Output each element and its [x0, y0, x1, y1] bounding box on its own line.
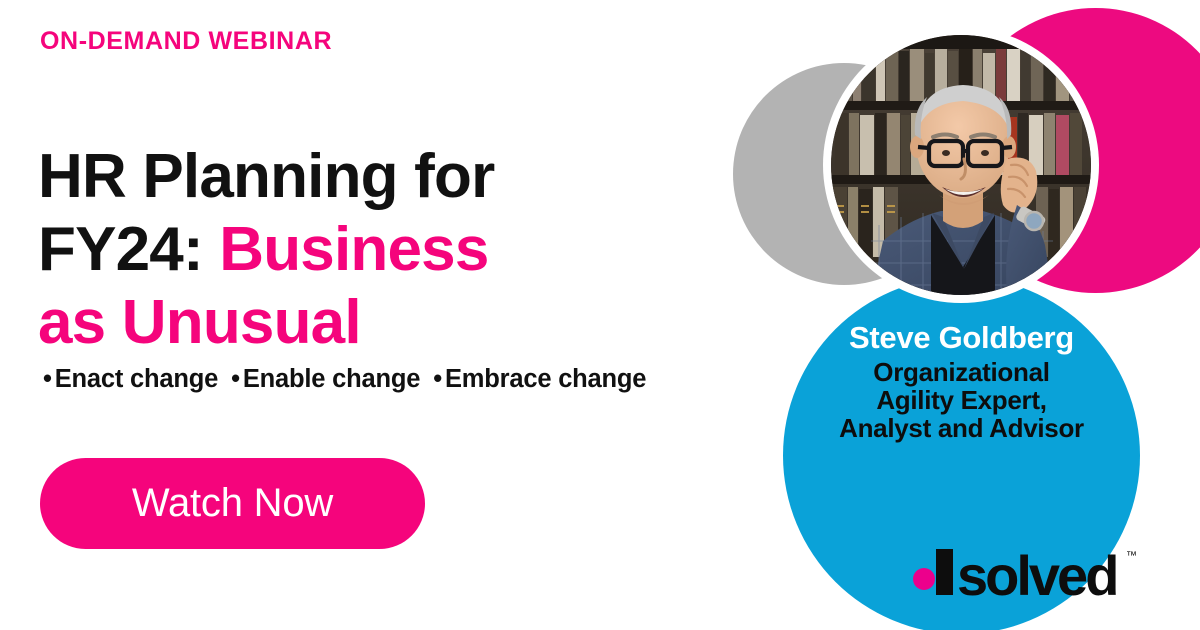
bullet-marker-1: •: [43, 365, 52, 394]
bullet-list: •Enact change•Enable change•Embrace chan…: [43, 365, 646, 394]
eyebrow-label: ON-DEMAND WEBINAR: [40, 29, 332, 54]
speaker-portrait-photo: [831, 35, 1091, 295]
logo-pink-dot: [913, 568, 935, 590]
headline-line-2-prefix: FY24:: [38, 215, 219, 284]
bullet-item-1: Enact change: [55, 365, 218, 393]
headline-line-3-accent: as Unusual: [38, 288, 361, 357]
watch-now-button[interactable]: Watch Now: [40, 458, 425, 549]
left-content-column: ON-DEMAND WEBINAR HR Planning for FY24: …: [40, 0, 760, 630]
bullet-marker-3: •: [433, 365, 442, 394]
bullet-marker-2: •: [231, 365, 240, 394]
bullet-item-2: Enable change: [243, 365, 420, 393]
page-title: HR Planning for FY24: Business as Unusua…: [38, 140, 738, 359]
headline-line-1: HR Planning for: [38, 142, 494, 211]
bullet-item-3: Embrace change: [445, 365, 646, 393]
speaker-graphic-group: Steve Goldberg Organizational Agility Ex…: [700, 0, 1200, 630]
headline-line-2-accent: Business: [219, 215, 488, 284]
portrait-ring: [823, 27, 1099, 303]
svg-text:solved: solved: [957, 544, 1116, 601]
isolved-logo: solved ™: [910, 543, 1150, 601]
webinar-promo-banner: ON-DEMAND WEBINAR HR Planning for FY24: …: [0, 0, 1200, 630]
svg-text:™: ™: [1126, 550, 1137, 562]
